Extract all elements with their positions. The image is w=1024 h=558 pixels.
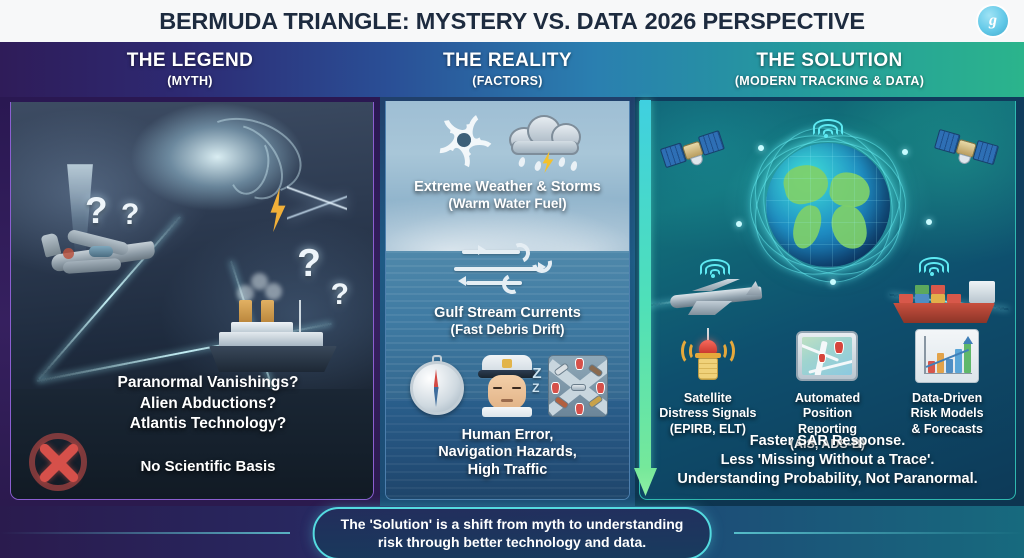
solution-panel: Satellite Distress Signals (EPIRB, ELT) <box>635 97 1024 506</box>
network-node <box>736 221 742 227</box>
tech-position-line1: Automated <box>772 391 882 406</box>
column-title-solution: THE SOLUTION <box>756 51 902 71</box>
factor-weather-line2: (Warm Water Fuel) <box>386 196 629 213</box>
column-header-banner: THE LEGEND (MYTH) THE REALITY (FACTORS) … <box>0 42 1024 97</box>
factor-currents-line2: (Fast Debris Drift) <box>386 322 629 339</box>
ocean-liner-icon <box>207 298 339 378</box>
bar-chart-icon-wrap <box>892 325 1002 387</box>
cargo-ship-icon <box>889 269 1001 327</box>
factor-human-icons: ZZ <box>386 353 629 417</box>
question-mark-icon: ? <box>297 242 321 286</box>
beacon-icon-wrap <box>653 325 763 387</box>
factor-weather-caption: Extreme Weather & Storms (Warm Water Fue… <box>386 179 629 213</box>
question-mark-icon: ? <box>121 198 139 232</box>
header-bar: BERMUDA TRIANGLE: MYSTERY VS. DATA2026 P… <box>0 0 1024 42</box>
lightning-strike-icon <box>287 164 347 236</box>
legend-claims: Paranormal Vanishings? Alien Abductions?… <box>11 373 373 435</box>
column-header-solution: THE SOLUTION (MODERN TRACKING & DATA) <box>635 42 1024 97</box>
legend-claim-2: Alien Abductions? <box>53 394 363 415</box>
footer-bar: The 'Solution' is a shift from myth to u… <box>0 506 1024 558</box>
page-title: BERMUDA TRIANGLE: MYSTERY VS. DATA2026 P… <box>159 8 865 35</box>
column-header-reality: THE REALITY (FACTORS) <box>380 42 635 97</box>
wifi-signal-icon <box>698 253 732 275</box>
solution-outcome-3: Understanding Probability, Not Paranorma… <box>646 470 1009 489</box>
vintage-plane-icon <box>37 224 165 290</box>
page-title-year: 2026 PERSPECTIVE <box>645 8 865 34</box>
wind-current-icon <box>448 241 568 295</box>
wifi-signal-icon <box>811 113 845 135</box>
footer-divider-right <box>734 532 1024 534</box>
column-subtitle-reality: (FACTORS) <box>472 74 543 88</box>
column-title-legend: THE LEGEND <box>127 51 253 71</box>
question-mark-icon: ? <box>331 278 349 312</box>
tablet-map-icon <box>796 331 858 381</box>
factor-currents-caption: Gulf Stream Currents (Fast Debris Drift) <box>386 305 629 339</box>
reality-content: Extreme Weather & Storms (Warm Water Fue… <box>386 101 629 499</box>
tech-label-beacon: Satellite Distress Signals (EPIRB, ELT) <box>653 391 763 437</box>
storm-cloud-icon <box>507 107 585 173</box>
solution-outcomes: Faster SAR Response. Less 'Missing Witho… <box>640 432 1015 489</box>
page-title-main: BERMUDA TRIANGLE: MYSTERY VS. DATA <box>159 8 637 34</box>
solution-panel-inner: Satellite Distress Signals (EPIRB, ELT) <box>639 101 1016 500</box>
factor-weather-line1: Extreme Weather & Storms <box>386 179 629 196</box>
globe-icon <box>766 143 890 267</box>
reality-panel: Extreme Weather & Storms (Warm Water Fue… <box>380 97 635 506</box>
brand-logo-icon[interactable]: g <box>978 6 1008 36</box>
legend-panel: ? ? ? ? Paranormal Vanishings? Alien Abd… <box>0 97 380 506</box>
factor-currents-line1: Gulf Stream Currents <box>386 305 629 322</box>
factor-weather-icons <box>386 107 629 173</box>
red-x-icon <box>27 431 89 493</box>
infographic-root: BERMUDA TRIANGLE: MYSTERY VS. DATA2026 P… <box>0 0 1024 558</box>
legend-claim-3: Atlantis Technology? <box>53 414 363 435</box>
bar-chart-icon <box>915 329 979 383</box>
column-subtitle-legend: (MYTH) <box>167 74 213 88</box>
tired-captain-icon: ZZ <box>476 353 538 417</box>
tech-label-risk: Data-Driven Risk Models & Forecasts <box>892 391 1002 437</box>
factor-human-caption: Human Error, Navigation Hazards, High Tr… <box>386 427 629 479</box>
legend-claim-1: Paranormal Vanishings? <box>53 373 363 394</box>
reality-panel-inner: Extreme Weather & Storms (Warm Water Fue… <box>385 101 630 500</box>
network-node <box>758 145 764 151</box>
tablet-map-icon-wrap <box>772 325 882 387</box>
tech-beacon-line2: Distress Signals <box>653 406 763 421</box>
column-subtitle-solution: (MODERN TRACKING & DATA) <box>735 74 924 88</box>
solution-outcome-1: Faster SAR Response. <box>646 432 1009 451</box>
legend-panel-inner: ? ? ? ? Paranormal Vanishings? Alien Abd… <box>10 102 374 500</box>
factor-weather: Extreme Weather & Storms (Warm Water Fue… <box>386 107 629 213</box>
network-node <box>902 149 908 155</box>
tech-beacon-line1: Satellite <box>653 391 763 406</box>
compass-icon <box>408 355 466 417</box>
question-mark-icon: ? <box>85 190 108 232</box>
hurricane-icon <box>431 107 497 173</box>
traffic-map-icon <box>548 355 608 417</box>
factor-currents-icons <box>386 241 629 295</box>
network-node <box>926 219 932 225</box>
factor-human-line3: High Traffic <box>386 462 629 479</box>
footer-divider-left <box>0 532 290 534</box>
column-header-legend: THE LEGEND (MYTH) <box>0 42 380 97</box>
column-title-reality: THE REALITY <box>443 51 572 71</box>
network-node <box>830 279 836 285</box>
tech-risk-line1: Data-Driven <box>892 391 1002 406</box>
factor-currents: Gulf Stream Currents (Fast Debris Drift) <box>386 241 629 339</box>
solution-outcome-2: Less 'Missing Without a Trace'. <box>646 451 1009 470</box>
factor-human-line2: Navigation Hazards, <box>386 444 629 461</box>
jet-icon <box>662 273 768 321</box>
footer-line-2: risk through better technology and data. <box>341 533 684 551</box>
beacon-icon <box>679 328 737 384</box>
footer-line-1: The 'Solution' is a shift from myth to u… <box>341 515 684 533</box>
myth-to-solution-arrow-icon <box>636 100 654 500</box>
tech-risk-line2: Risk Models <box>892 406 1002 421</box>
legend-illustration: ? ? ? ? <box>11 102 373 407</box>
factor-human: ZZ Human Error, Navigation Hazards, <box>386 353 629 479</box>
factor-human-line1: Human Error, <box>386 427 629 444</box>
footer-summary-callout: The 'Solution' is a shift from myth to u… <box>313 507 712 558</box>
